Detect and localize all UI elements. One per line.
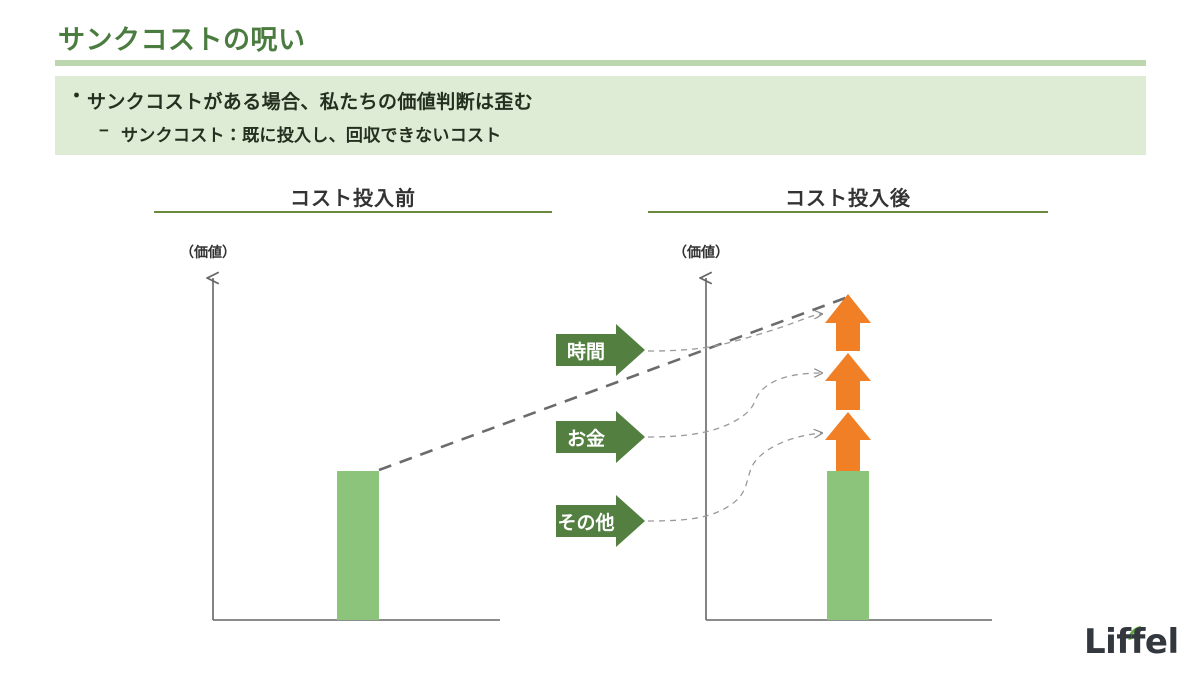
value-bar-before: [337, 471, 379, 620]
cost-label-text-money: お金: [567, 427, 605, 450]
chart-diagram: 時間 お金 その他: [0, 0, 1200, 675]
up-arrow-other: [825, 412, 871, 471]
cost-label-other: その他: [556, 495, 645, 547]
connector-time: [648, 314, 822, 351]
up-arrow-time: [825, 294, 871, 351]
connector-money: [648, 373, 822, 437]
brand-logo: Liffel: [1084, 613, 1176, 659]
brand-logo-text: Liffel: [1084, 625, 1179, 659]
up-arrow-money: [825, 353, 871, 410]
cost-label-text-other: その他: [557, 511, 614, 534]
cost-label-text-time: 時間: [567, 341, 605, 363]
cost-label-time: 時間: [556, 324, 645, 376]
cost-label-money: お金: [556, 411, 645, 463]
value-bar-after: [827, 471, 869, 620]
connector-other: [648, 433, 822, 521]
